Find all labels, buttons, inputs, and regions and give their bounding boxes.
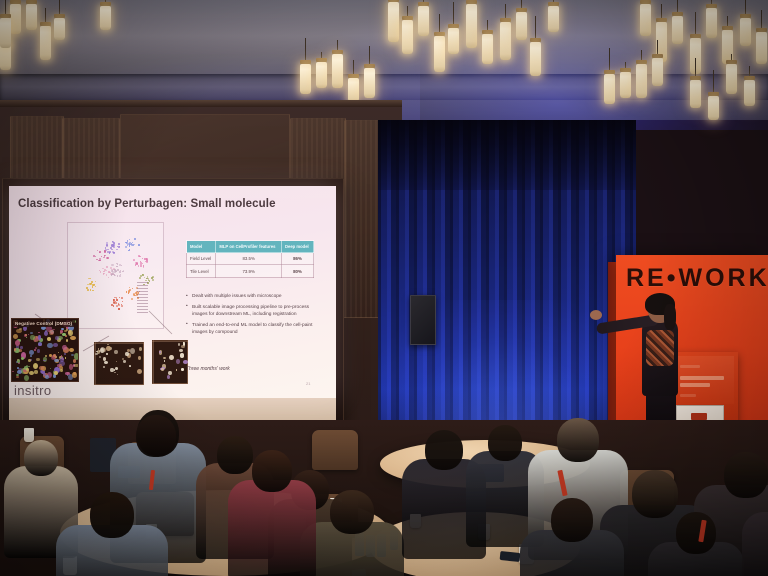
audience-member-head bbox=[330, 490, 374, 534]
table-row: Field Level83.5%86% bbox=[187, 253, 314, 265]
cell-blob bbox=[24, 375, 29, 381]
umap-point bbox=[122, 301, 123, 302]
cell-blob bbox=[33, 363, 38, 369]
audience-member-head bbox=[136, 415, 176, 457]
umap-point bbox=[106, 270, 107, 271]
cell-blob bbox=[176, 369, 177, 371]
cell-blob bbox=[44, 331, 48, 336]
slide-title: Classification by Perturbagen: Small mol… bbox=[18, 198, 318, 210]
cell-blob bbox=[65, 357, 67, 359]
cell-blob bbox=[38, 343, 42, 346]
cell-blob bbox=[16, 374, 19, 376]
cell-blob bbox=[37, 349, 41, 353]
cell-blob bbox=[47, 337, 51, 341]
umap-point bbox=[138, 244, 140, 246]
cell-blob bbox=[62, 345, 67, 350]
umap-point bbox=[95, 286, 96, 287]
umap-point bbox=[119, 271, 121, 273]
umap-point bbox=[129, 287, 130, 288]
cell-blob bbox=[50, 368, 52, 370]
umap-point bbox=[140, 262, 142, 264]
cell-blob bbox=[161, 368, 164, 371]
umap-point bbox=[99, 258, 101, 260]
cell-blob bbox=[137, 369, 142, 374]
cell-blob bbox=[167, 375, 170, 379]
umap-point bbox=[101, 256, 102, 257]
umap-point bbox=[129, 239, 130, 240]
umap-point bbox=[106, 274, 108, 276]
audience-member-head bbox=[676, 512, 716, 554]
umap-point bbox=[134, 238, 136, 240]
cell-blob bbox=[103, 366, 105, 368]
cell-blob bbox=[38, 332, 39, 333]
insitro-logo: insitro bbox=[14, 383, 51, 398]
cell-blob bbox=[54, 359, 59, 363]
cell-blob bbox=[181, 345, 185, 349]
audience-member-torso bbox=[742, 512, 768, 576]
umap-point bbox=[111, 304, 113, 306]
umap-point bbox=[140, 275, 142, 277]
umap-point bbox=[122, 271, 124, 273]
umap-point bbox=[119, 297, 121, 299]
cell-blob bbox=[34, 370, 39, 374]
presenter-scarf bbox=[646, 330, 674, 366]
cell-blob bbox=[34, 349, 36, 352]
cell-blob bbox=[54, 371, 58, 375]
presenter-hand bbox=[590, 310, 602, 320]
cell-blob bbox=[49, 354, 52, 357]
cell-model: Field Level bbox=[187, 253, 216, 265]
umap-point bbox=[128, 292, 130, 294]
cell-montage-grid-b bbox=[152, 340, 188, 384]
cell-blob bbox=[181, 368, 183, 371]
umap-point bbox=[131, 298, 133, 300]
umap-point bbox=[116, 299, 118, 301]
negative-control-image bbox=[11, 318, 79, 382]
cell-blob bbox=[69, 348, 74, 352]
cell-deep-accuracy: 80% bbox=[281, 265, 313, 277]
curtain-top-shadow bbox=[378, 120, 636, 190]
cell-blob bbox=[176, 359, 181, 364]
umap-point bbox=[135, 264, 137, 266]
cell-blob bbox=[16, 329, 22, 334]
umap-point bbox=[106, 244, 108, 246]
cell-blob bbox=[169, 355, 174, 360]
audience-member-head bbox=[551, 498, 593, 542]
slide-bullet: Trained an end-to-end ML model to classi… bbox=[186, 322, 318, 337]
audience-member-head bbox=[252, 450, 292, 492]
table-row: Tile Level73.9%80% bbox=[187, 265, 314, 277]
cell-blob bbox=[138, 356, 141, 360]
slide-closing-note: Three months' work bbox=[186, 366, 230, 372]
umap-point bbox=[111, 264, 113, 266]
audience-member-head bbox=[632, 470, 678, 518]
umap-point bbox=[107, 251, 109, 253]
audience-member-head bbox=[90, 492, 134, 538]
umap-point bbox=[128, 290, 130, 292]
umap-point bbox=[139, 277, 141, 279]
cell-blob bbox=[107, 344, 109, 345]
audience-member-head bbox=[557, 418, 599, 462]
cell-blob bbox=[68, 330, 73, 336]
cell-blob bbox=[114, 372, 116, 374]
umap-point bbox=[144, 277, 146, 279]
umap-point bbox=[126, 246, 128, 248]
cell-mlp-accuracy: 83.5% bbox=[216, 253, 282, 265]
cell-blob bbox=[60, 357, 64, 361]
umap-point bbox=[104, 250, 106, 252]
cell-blob bbox=[114, 350, 118, 354]
cell-model: Tile Level bbox=[187, 265, 216, 277]
audience-member-head bbox=[24, 440, 58, 476]
umap-point bbox=[89, 278, 91, 280]
umap-point bbox=[90, 283, 91, 284]
umap-point bbox=[121, 297, 123, 299]
cell-blob bbox=[14, 348, 16, 350]
chair bbox=[312, 430, 358, 470]
cell-deep-accuracy: 86% bbox=[281, 253, 313, 265]
cell-blob bbox=[28, 334, 30, 335]
umap-point bbox=[98, 260, 100, 262]
banner-text: RE•WORK bbox=[626, 264, 768, 293]
umap-point bbox=[108, 271, 110, 273]
cell-blob bbox=[53, 343, 58, 347]
col-deep: Deep model bbox=[281, 241, 313, 253]
umap-point bbox=[132, 288, 133, 289]
slide-bullet: Built scalable image processing pipeline… bbox=[186, 304, 318, 319]
umap-point bbox=[117, 246, 118, 247]
cell-blob bbox=[164, 360, 165, 362]
cell-blob bbox=[69, 364, 74, 370]
cell-blob bbox=[99, 356, 101, 358]
podium-sign bbox=[672, 356, 734, 404]
umap-point bbox=[128, 243, 130, 245]
cell-blob bbox=[129, 365, 132, 367]
slide-number: 21 bbox=[306, 381, 310, 386]
umap-point bbox=[117, 264, 118, 265]
umap-point bbox=[115, 275, 117, 277]
cell-blob bbox=[178, 343, 181, 346]
cell-blob bbox=[15, 340, 20, 346]
cell-blob bbox=[183, 360, 188, 364]
cell-blob bbox=[74, 364, 79, 368]
cell-blob bbox=[130, 348, 135, 354]
umap-point bbox=[146, 260, 148, 262]
wall-crown-rail bbox=[0, 100, 402, 107]
umap-point bbox=[97, 250, 98, 251]
cell-blob bbox=[29, 371, 35, 376]
cell-blob bbox=[106, 346, 110, 351]
umap-point bbox=[115, 302, 117, 304]
cell-mlp-accuracy: 73.9% bbox=[216, 265, 282, 277]
cell-blob bbox=[179, 349, 183, 352]
cell-blob bbox=[30, 335, 34, 340]
cell-blob bbox=[72, 372, 78, 378]
umap-point bbox=[143, 267, 145, 269]
umap-point bbox=[132, 244, 134, 246]
results-table: Model MLP on CellProfiler features Deep … bbox=[186, 240, 314, 278]
cell-blob bbox=[13, 334, 18, 339]
cell-blob bbox=[38, 335, 42, 340]
cell-blob bbox=[17, 359, 20, 363]
umap-point bbox=[87, 289, 89, 291]
umap-point bbox=[100, 271, 101, 272]
umap-point bbox=[119, 275, 121, 277]
cell-blob bbox=[28, 359, 31, 362]
cell-montage-grid-a bbox=[94, 342, 144, 385]
cell-blob bbox=[60, 369, 63, 372]
cell-blob bbox=[123, 360, 126, 363]
umap-point bbox=[118, 243, 120, 245]
audience-member-head bbox=[488, 425, 522, 461]
umap-point bbox=[134, 295, 136, 297]
col-model: Model bbox=[187, 241, 216, 253]
cell-blob bbox=[26, 337, 28, 339]
cell-blob bbox=[64, 353, 66, 355]
cell-blob bbox=[40, 370, 43, 372]
umap-point bbox=[152, 279, 154, 281]
cell-blob bbox=[125, 352, 129, 356]
cell-blob bbox=[115, 367, 118, 370]
smartphone bbox=[500, 551, 521, 562]
umap-point bbox=[108, 277, 110, 279]
umap-point bbox=[129, 249, 131, 251]
umap-point bbox=[90, 289, 91, 290]
presenter bbox=[596, 296, 680, 428]
umap-scatter-plot bbox=[67, 222, 164, 329]
umap-legend bbox=[137, 282, 148, 314]
audience-member-head bbox=[217, 436, 253, 474]
umap-point bbox=[152, 276, 154, 278]
cell-blob bbox=[28, 366, 30, 368]
umap-point bbox=[114, 243, 116, 245]
umap-point bbox=[139, 256, 141, 258]
wall-mounted-loudspeaker bbox=[410, 295, 436, 345]
presenter-hair-side bbox=[664, 304, 676, 330]
cell-blob bbox=[104, 361, 109, 365]
negative-control-label: Negative Control (DMSO) bbox=[13, 319, 75, 327]
cell-blob bbox=[116, 361, 117, 362]
coffee-cup bbox=[24, 428, 34, 442]
cell-blob bbox=[55, 336, 59, 340]
cell-blob bbox=[106, 353, 108, 355]
cell-blob bbox=[30, 355, 32, 357]
conference-photo-scene: RE•WORK Classification by Perturbagen: S… bbox=[0, 0, 768, 576]
cell-blob bbox=[45, 355, 47, 357]
audience-member-head bbox=[724, 452, 768, 498]
col-mlp: MLP on CellProfiler features bbox=[216, 241, 282, 253]
umap-point bbox=[105, 247, 106, 248]
slide-bullet-list: Dealt with multiple issues with microsco… bbox=[186, 293, 318, 340]
cell-blob bbox=[95, 353, 98, 356]
umap-point bbox=[120, 270, 121, 271]
umap-point bbox=[111, 249, 113, 251]
cell-blob bbox=[49, 330, 53, 336]
cell-blob bbox=[12, 371, 14, 373]
cell-blob bbox=[139, 347, 143, 351]
table-header-row: Model MLP on CellProfiler features Deep … bbox=[187, 241, 314, 253]
umap-point bbox=[87, 284, 89, 286]
umap-point bbox=[92, 290, 93, 291]
umap-point bbox=[116, 249, 118, 251]
umap-point bbox=[121, 305, 123, 307]
cell-blob bbox=[117, 374, 119, 375]
umap-point bbox=[107, 257, 109, 259]
umap-point bbox=[112, 273, 114, 275]
cell-blob bbox=[163, 357, 166, 359]
umap-point bbox=[95, 256, 97, 258]
cell-blob bbox=[29, 350, 34, 355]
umap-point bbox=[138, 265, 139, 266]
umap-point bbox=[106, 266, 108, 268]
cell-blob bbox=[21, 357, 24, 360]
cell-blob bbox=[30, 332, 33, 335]
cell-blob bbox=[180, 353, 185, 358]
umap-point bbox=[116, 266, 118, 268]
umap-point bbox=[142, 258, 143, 259]
umap-point bbox=[94, 284, 95, 285]
cell-blob bbox=[36, 358, 39, 361]
cell-blob bbox=[25, 334, 27, 336]
umap-point bbox=[142, 274, 143, 275]
umap-point bbox=[113, 246, 115, 248]
cell-blob bbox=[58, 352, 60, 353]
umap-point bbox=[133, 259, 135, 261]
umap-point bbox=[92, 286, 94, 288]
umap-point bbox=[103, 257, 105, 259]
cell-blob bbox=[73, 359, 76, 363]
cell-blob bbox=[60, 330, 63, 333]
cell-blob bbox=[66, 339, 69, 342]
audience-member-torso bbox=[228, 480, 316, 576]
umap-point bbox=[118, 308, 120, 310]
audience-member-head bbox=[425, 430, 463, 470]
umap-point bbox=[95, 281, 97, 283]
cell-blob bbox=[70, 336, 75, 340]
umap-point bbox=[117, 275, 119, 277]
cell-blob bbox=[100, 347, 105, 353]
slide-bullet: Dealt with multiple issues with microsco… bbox=[186, 293, 318, 300]
cell-blob bbox=[47, 343, 53, 349]
